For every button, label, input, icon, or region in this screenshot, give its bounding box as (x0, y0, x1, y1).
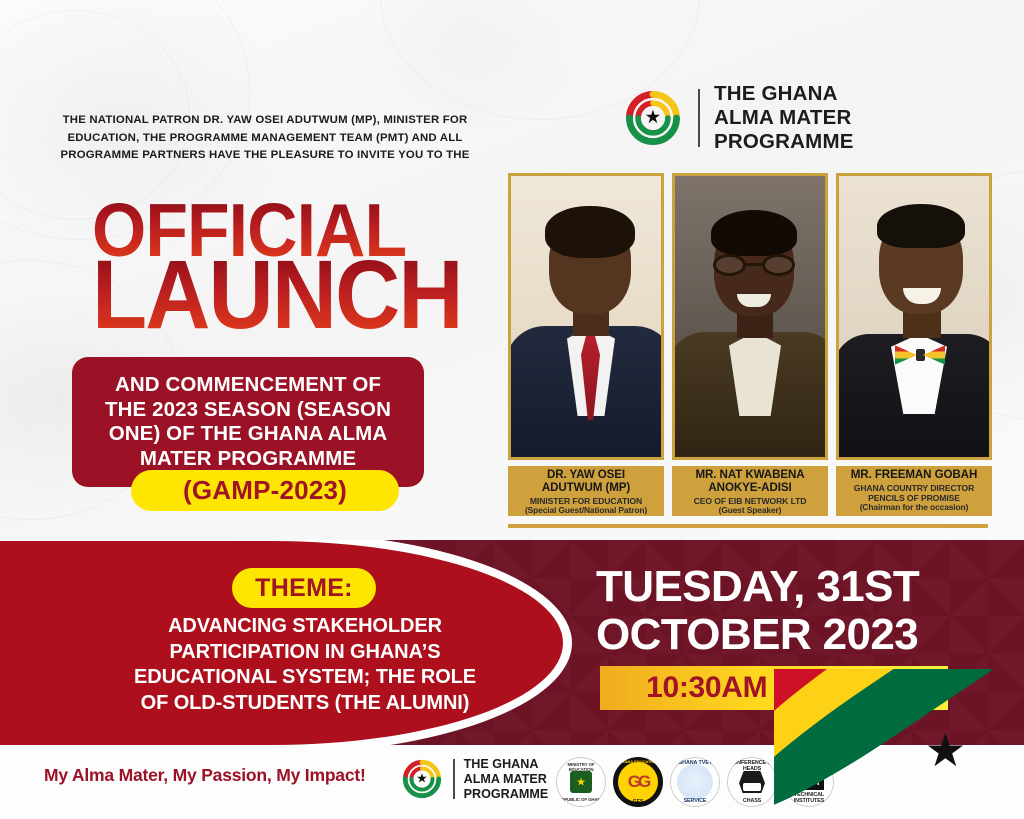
event-date-line2: OCTOBER 2023 (596, 610, 918, 660)
theme-label: THEME: (255, 574, 353, 603)
speaker-name-2: MR. NAT KWABENA ANOKYE-ADISI (676, 469, 824, 495)
partner-logo-chass: CONFERENCE OF HEADS CHASS (727, 757, 777, 807)
partner-logo-ghana-tvet-service: GHANA TVET SERVICE (670, 757, 720, 807)
partner-logo-ghana-education-service: GHANA EDUCATION SERVICE GG GES (613, 757, 663, 807)
speaker-role-3: GHANA COUNTRY DIRECTOR PENCILS OF PROMIS… (840, 483, 988, 503)
footer-brand-lockup: ★ THE GHANA ALMA MATER PROGRAMME (400, 757, 548, 802)
speaker-tag-2: (Guest Speaker) (676, 506, 824, 516)
brand-lockup: ★ THE GHANA ALMA MATER PROGRAMME (622, 82, 854, 153)
tvet-network-icon (677, 764, 713, 800)
event-time-bar: 10:30AM PROMPT (600, 666, 948, 710)
gold-divider-rule (508, 524, 988, 528)
footer-tagline: My Alma Mater, My Passion, My Impact! (44, 765, 366, 786)
brand-name: THE GHANA ALMA MATER PROGRAMME (714, 82, 854, 153)
footer-brand-divider (453, 759, 455, 799)
ges-inner-disc: GG (618, 762, 658, 802)
speaker-name-1: DR. YAW OSEI ADUTWUM (MP) (512, 469, 660, 495)
gamp-pill-label: (GAMP-2023) (183, 475, 347, 506)
ges-monogram: GG (628, 772, 648, 792)
partner-logos: MINISTRY OF EDUCATION REPUBLIC OF GHANA … (556, 757, 834, 807)
speaker-photo-2 (672, 173, 828, 460)
nameplate-3: MR. FREEMAN GOBAH GHANA COUNTRY DIRECTOR… (836, 466, 992, 516)
headline-launch: LAUNCH (92, 253, 462, 336)
ges-bottom-text: GES (613, 799, 663, 805)
apti-bottom-text: TECHNICAL INSTITUTES (784, 792, 834, 804)
speaker-tag-1: (Special Guest/National Patron) (512, 506, 660, 516)
gamp-spiral-logo-icon: ★ (622, 87, 684, 149)
theme-body: ADVANCING STAKEHOLDER PARTICIPATION IN G… (60, 614, 550, 716)
chass-bottom-text: CHASS (727, 798, 777, 804)
tvet-bottom-text: SERVICE (670, 798, 720, 804)
footer-brand-name: THE GHANA ALMA MATER PROGRAMME (464, 757, 549, 802)
nameplate-2: MR. NAT KWABENA ANOKYE-ADISI CEO OF EIB … (672, 466, 828, 516)
partner-logo-apti: ASSOCIATION OF PRINCIPALS OF APTI TECHNI… (784, 757, 834, 807)
speaker-name-3: MR. FREEMAN GOBAH (840, 469, 988, 482)
partner-logo-ministry-of-education: MINISTRY OF EDUCATION REPUBLIC OF GHANA (556, 757, 606, 807)
commencement-text: AND COMMENCEMENT OF THE 2023 SEASON (SEA… (86, 373, 410, 471)
portrait-yaw-osei-adutwum (511, 176, 661, 457)
portrait-nat-kwabena-anokye-adisi (675, 176, 825, 457)
tvet-top-text: GHANA TVET (670, 760, 720, 766)
invitation-text: THE NATIONAL PATRON DR. YAW OSEI ADUTWUM… (55, 112, 475, 165)
speaker-nameplates: DR. YAW OSEI ADUTWUM (MP) MINISTER FOR E… (508, 466, 992, 516)
commencement-banner: AND COMMENCEMENT OF THE 2023 SEASON (SEA… (72, 357, 424, 487)
apti-top-text: ASSOCIATION OF PRINCIPALS OF (784, 760, 834, 772)
chass-reader-icon (739, 771, 765, 793)
gamp-pill: (GAMP-2023) (131, 470, 399, 511)
chass-top-text: CONFERENCE OF HEADS (727, 760, 777, 772)
svg-text:★: ★ (645, 106, 662, 127)
gamp-spiral-logo-icon: ★ (400, 757, 444, 801)
speaker-photo-1 (508, 173, 664, 460)
nameplate-1: DR. YAW OSEI ADUTWUM (MP) MINISTER FOR E… (508, 466, 664, 516)
theme-pill: THEME: (232, 568, 376, 608)
speaker-photos (508, 173, 992, 460)
event-time: 10:30AM PROMPT (646, 671, 902, 705)
moe-bottom-text: REPUBLIC OF GHANA (556, 797, 606, 802)
speaker-photo-3 (836, 173, 992, 460)
event-date-line1: TUESDAY, 31ST (596, 562, 919, 612)
brand-divider (698, 89, 700, 147)
svg-text:★: ★ (416, 771, 428, 786)
event-flyer: THE NATIONAL PATRON DR. YAW OSEI ADUTWUM… (0, 0, 1024, 819)
portrait-freeman-gobah (839, 176, 989, 457)
ghana-coat-of-arms-icon (570, 771, 592, 793)
speaker-tag-3: (Chairman for the occasion) (840, 503, 988, 513)
